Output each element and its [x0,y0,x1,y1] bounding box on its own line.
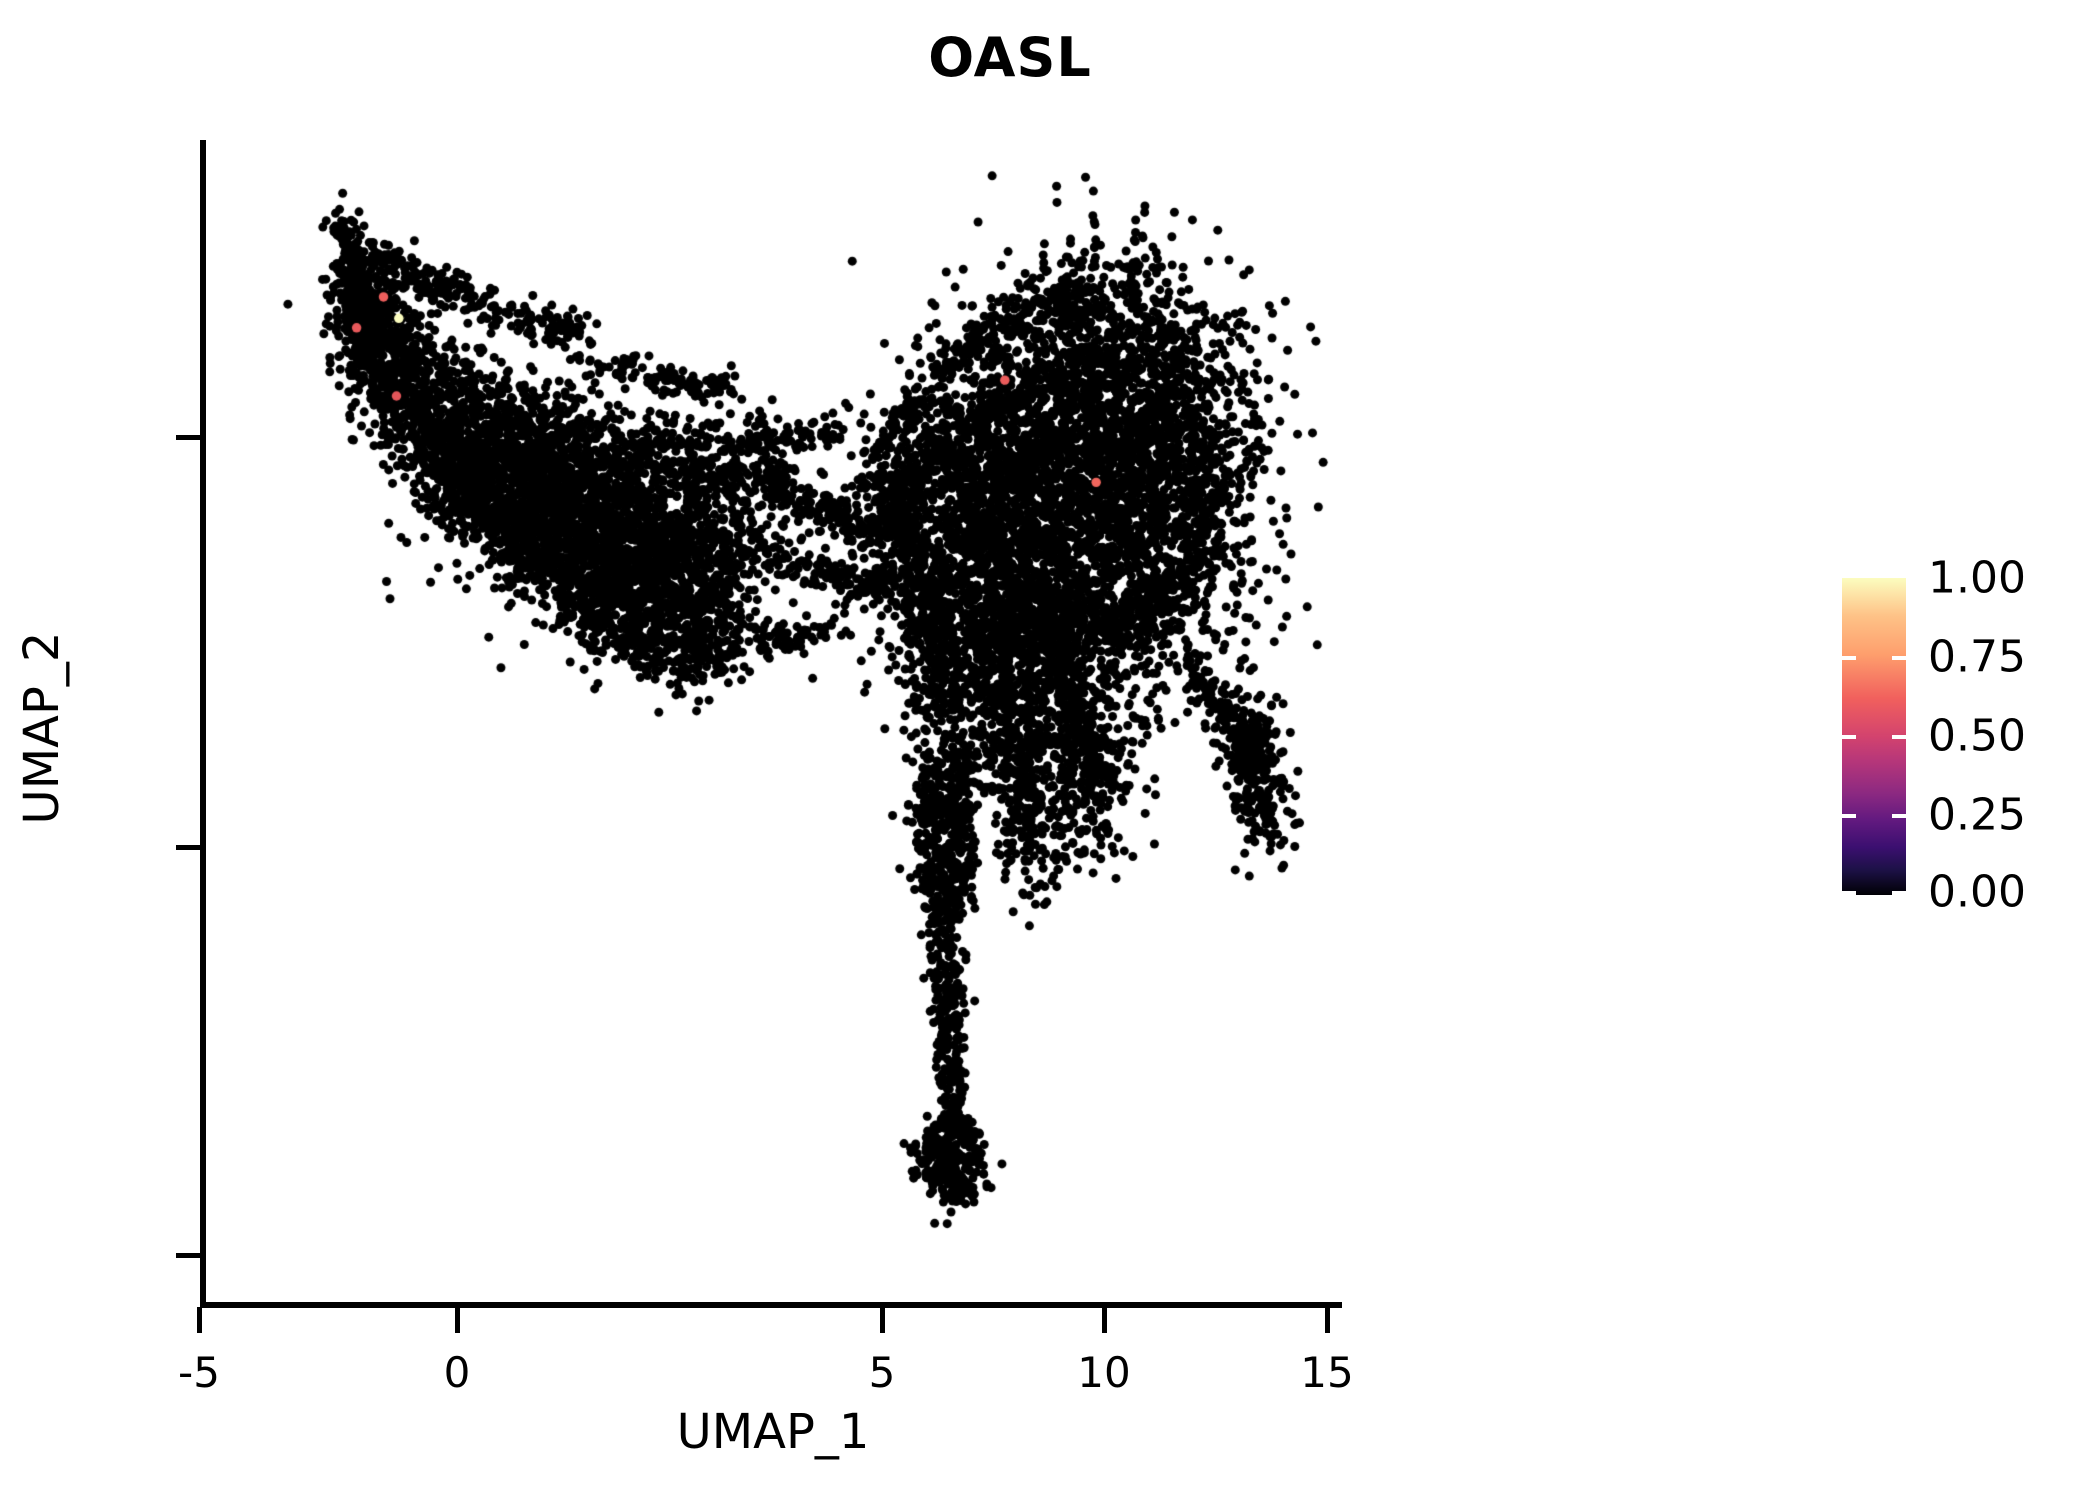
x-tick-label-neg5: -5 [178,1348,220,1397]
colorbar-label-025: 0.25 [1928,790,2026,841]
x-tick-label-15: 15 [1300,1348,1353,1397]
colorbar-tick-000-right [1892,891,1906,895]
colorbar-tick-025-left [1842,814,1856,818]
x-tick-mark-neg5 [197,1307,202,1333]
colorbar-tick-050-left [1842,735,1856,739]
plot-area [205,140,1341,1305]
x-tick-label-5: 5 [869,1348,896,1397]
x-tick-mark-10 [1102,1307,1107,1333]
chart-title: OASL [0,26,2020,89]
x-axis-title: UMAP_1 [0,1404,1546,1460]
x-tick-mark-0 [455,1307,460,1333]
colorbar-tick-025-right [1892,814,1906,818]
colorbar-label-100: 1.00 [1928,553,2026,604]
colorbar-label-000: 0.00 [1928,867,2026,918]
figure-root: OASL 10 5 0 -5 0 5 10 15 UMAP_1 UMAP_2 1… [0,0,2100,1500]
y-tick-mark-5 [176,845,202,850]
x-tick-mark-5 [880,1307,885,1333]
scatter-plot-canvas [205,140,1341,1305]
y-tick-mark-0 [176,1253,202,1258]
x-tick-label-10: 10 [1077,1348,1130,1397]
y-axis-title: UMAP_2 [14,458,70,998]
colorbar-legend: 1.00 0.75 0.50 0.25 0.00 [1842,578,2082,898]
colorbar-tick-050-right [1892,735,1906,739]
colorbar-tick-075-right [1892,656,1906,660]
colorbar-tick-000-left [1842,891,1856,895]
y-tick-mark-10 [176,435,202,440]
colorbar-label-050: 0.50 [1928,711,2026,762]
x-tick-mark-15 [1325,1307,1330,1333]
x-tick-label-0: 0 [444,1348,471,1397]
colorbar-tick-075-left [1842,656,1856,660]
colorbar-label-075: 0.75 [1928,632,2026,683]
